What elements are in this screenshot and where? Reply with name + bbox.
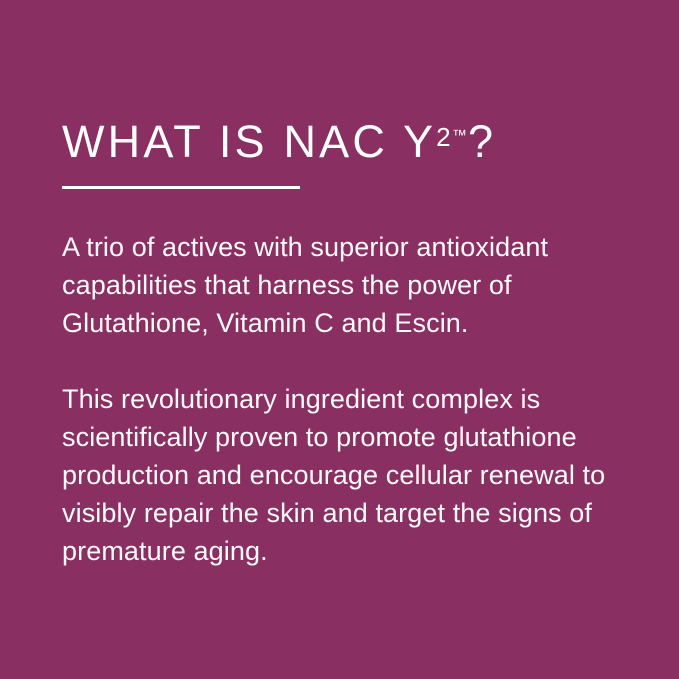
content-container: WHAT IS NAC Y2™? A trio of actives with … xyxy=(62,118,637,570)
body-paragraph-1: A trio of actives with superior antioxid… xyxy=(62,228,642,342)
body-paragraph-2: This revolutionary ingredient complex is… xyxy=(62,380,642,570)
page-title-superscript: 2 xyxy=(436,122,451,152)
page-title-question-mark: ? xyxy=(468,116,493,167)
page-title: WHAT IS NAC Y2™? xyxy=(62,118,637,166)
product-info-panel: WHAT IS NAC Y2™? A trio of actives with … xyxy=(0,0,679,679)
heading-underline-divider xyxy=(62,186,300,189)
body-text-block: A trio of actives with superior antioxid… xyxy=(62,228,637,570)
trademark-symbol: ™ xyxy=(452,128,467,144)
page-title-lead: WHAT IS NAC Y xyxy=(62,116,436,167)
